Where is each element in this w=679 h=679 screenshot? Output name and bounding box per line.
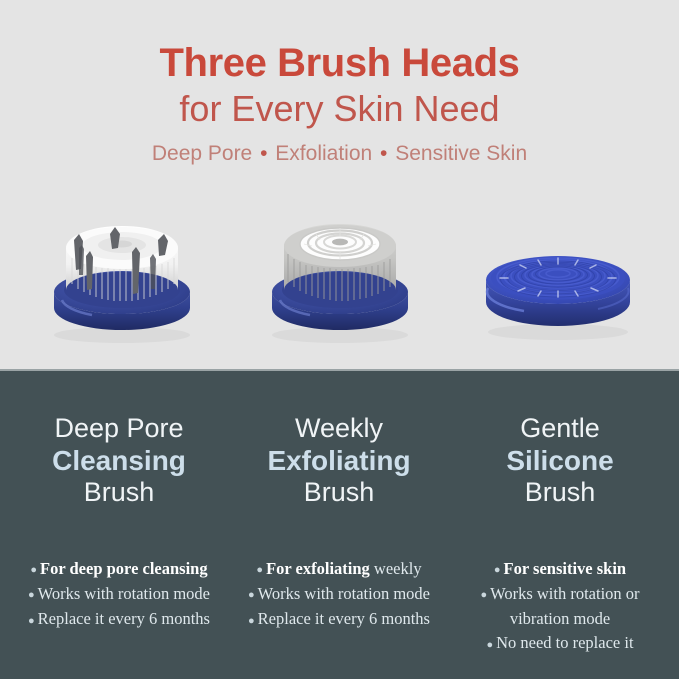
heading-line-2: Silicone — [451, 444, 669, 477]
product-feature-list: ●For deep pore cleansing ●Works with rot… — [10, 557, 228, 633]
bullet-dot-icon: ● — [28, 615, 38, 627]
tagline-item-1: Deep Pore — [152, 142, 252, 165]
list-item: ●Replace it every 6 months — [10, 607, 228, 632]
list-item: ●For sensitive skin — [451, 557, 669, 582]
tagline: Deep Pore • Exfoliation • Sensitive Skin — [0, 140, 679, 168]
product-heading: Deep Pore Cleansing Brush — [10, 413, 228, 508]
page-subtitle: for Every Skin Need — [0, 87, 679, 131]
list-item-text: Replace it every 6 months — [38, 609, 210, 628]
bullet-dot-icon: ● — [480, 589, 490, 601]
list-item-bold: For sensitive skin — [504, 559, 627, 578]
header-block: Three Brush Heads for Every Skin Need De… — [0, 40, 679, 168]
gentle-silicone-brush-image — [458, 196, 658, 346]
product-heading: Weekly Exfoliating Brush — [230, 413, 448, 508]
bullet-dot-icon: ● — [30, 564, 40, 576]
infographic-page: Three Brush Heads for Every Skin Need De… — [0, 0, 679, 679]
list-item-text: Works with rotation mode — [258, 584, 430, 603]
deep-pore-cleansing-brush-image — [22, 196, 222, 346]
product-feature-list: ●For exfoliating weekly ●Works with rota… — [230, 557, 448, 633]
bullet-dot-icon: ● — [256, 564, 266, 576]
weekly-exfoliating-brush-image — [240, 196, 440, 346]
heading-line-3: Brush — [230, 477, 448, 508]
bullet-dot-icon: ● — [28, 589, 38, 601]
page-title: Three Brush Heads — [0, 40, 679, 86]
bottom-panel: Deep Pore Cleansing Brush ●For deep pore… — [0, 371, 679, 679]
list-item-text: Works with rotation or vibration mode — [490, 584, 639, 628]
heading-line-1: Deep Pore — [10, 413, 228, 444]
heading-line-3: Brush — [10, 477, 228, 508]
product-heading: Gentle Silicone Brush — [451, 413, 669, 508]
bullet-dot-icon: ● — [494, 564, 504, 576]
list-item-text: Works with rotation mode — [38, 584, 210, 603]
brush-image-row — [0, 196, 679, 346]
tagline-separator-icon: • — [378, 142, 389, 165]
list-item: ●For exfoliating weekly — [230, 557, 448, 582]
heading-line-2: Cleansing — [10, 444, 228, 477]
bullet-dot-icon: ● — [248, 589, 258, 601]
list-item: ●Works with rotation mode — [230, 582, 448, 607]
list-item: ●Works with rotation mode — [10, 582, 228, 607]
list-item-text: Replace it every 6 months — [258, 609, 430, 628]
list-item: ●Works with rotation or vibration mode — [451, 582, 669, 631]
list-item-text: No need to replace it — [496, 633, 633, 652]
tagline-separator-icon: • — [258, 142, 269, 165]
bullet-dot-icon: ● — [486, 639, 496, 651]
top-panel: Three Brush Heads for Every Skin Need De… — [0, 0, 679, 371]
list-item: ●No need to replace it — [451, 631, 669, 656]
heading-line-2: Exfoliating — [230, 444, 448, 477]
heading-line-1: Weekly — [230, 413, 448, 444]
list-item-bold: For exfoliating — [266, 559, 370, 578]
list-item: ●Replace it every 6 months — [230, 607, 448, 632]
product-feature-list: ●For sensitive skin ●Works with rotation… — [451, 557, 669, 657]
list-item: ●For deep pore cleansing — [10, 557, 228, 582]
bullet-dot-icon: ● — [248, 615, 258, 627]
tagline-item-2: Exfoliation — [275, 142, 372, 165]
tagline-item-3: Sensitive Skin — [395, 142, 527, 165]
heading-line-1: Gentle — [451, 413, 669, 444]
heading-line-3: Brush — [451, 477, 669, 508]
list-item-tail: weekly — [370, 559, 422, 578]
list-item-bold: For deep pore cleansing — [40, 559, 208, 578]
